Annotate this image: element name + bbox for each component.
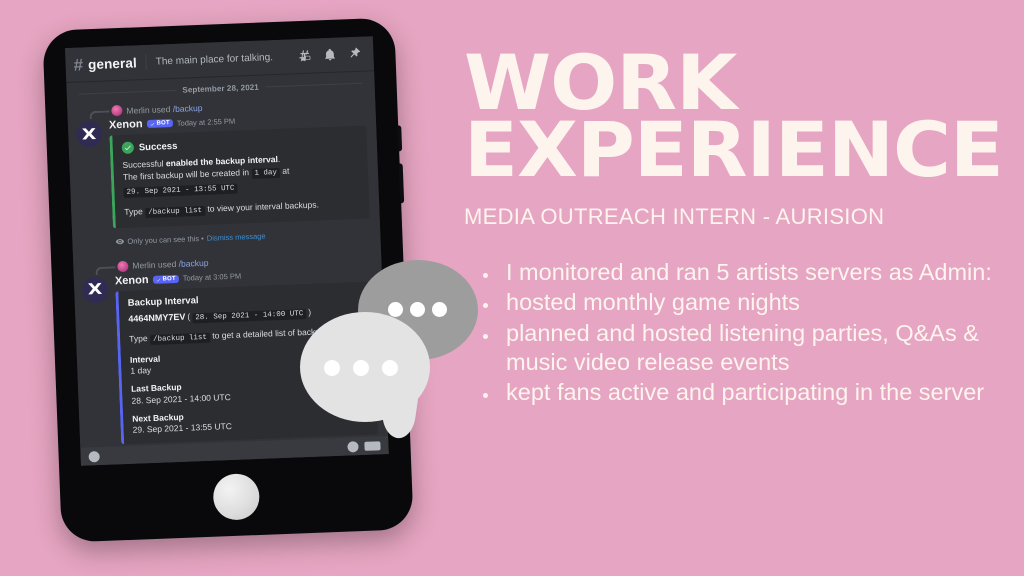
check-icon: [155, 277, 160, 282]
bubble-front-dot-1: [324, 360, 340, 376]
bullet-list: I monitored and ran 5 artists servers as…: [464, 258, 1024, 407]
add-attachment-icon[interactable]: [88, 451, 99, 462]
bot-badge-label: BOT: [156, 120, 169, 127]
embed-line1-prefix: Successful: [122, 158, 166, 170]
avatar[interactable]: X: [82, 277, 109, 304]
pin-icon[interactable]: [348, 47, 362, 61]
embed-success: Success Successful enabled the backup in…: [109, 126, 369, 229]
bubble-front-dot-3: [382, 360, 398, 376]
speech-bubble-decoration: [296, 258, 486, 448]
message-row: X Xenon BOT Today at 2:55 PM: [68, 107, 380, 230]
eye-icon: [115, 233, 125, 251]
backup-id: 4464NMY7EV: [128, 312, 185, 324]
bubble-back-dot-2: [410, 302, 425, 317]
header-icon-group: [297, 47, 363, 64]
list-item: I monitored and ran 5 artists servers as…: [500, 258, 1024, 287]
embed-code-command: /backup list: [145, 206, 205, 218]
embed-title: Success: [139, 140, 178, 152]
xenon-logo-icon: X: [88, 282, 103, 298]
heading-line-2: EXPERIENCE: [464, 117, 1024, 184]
interaction-user: Merlin: [126, 104, 150, 115]
ephemeral-label: Only you can see this •: [127, 234, 204, 246]
bubble-back-dot-1: [388, 302, 403, 317]
list-item: kept fans active and participating in th…: [500, 378, 1024, 407]
hash-icon: #: [73, 56, 83, 73]
bot-badge: BOT: [152, 275, 179, 285]
bubble-back-dot-3: [432, 302, 447, 317]
embed-line3-suffix: to view your interval backups.: [205, 200, 319, 214]
message-author[interactable]: Xenon: [115, 274, 149, 287]
header-divider: [145, 54, 147, 70]
bubble-front-dot-2: [353, 360, 369, 376]
bot-badge-label: BOT: [162, 276, 175, 283]
page-title: WORK EXPERIENCE: [464, 50, 1024, 184]
embed-line3-prefix: Type: [124, 206, 145, 217]
interaction-user: Merlin: [132, 260, 156, 271]
interaction-used-label: used: [158, 259, 177, 270]
embed-code-command: /backup list: [150, 333, 210, 345]
xenon-logo-icon: X: [82, 126, 97, 142]
page-subtitle: MEDIA OUTREACH INTERN - AURISION: [464, 204, 1024, 230]
list-item: planned and hosted listening parties, Q&…: [500, 319, 1024, 376]
avatar[interactable]: [117, 261, 128, 272]
slash-command-link[interactable]: /backup: [173, 102, 203, 113]
hint-prefix: Type: [129, 333, 150, 344]
slash-command-link[interactable]: /backup: [179, 258, 209, 269]
channel-topic: The main place for talking.: [156, 52, 274, 67]
list-item: hosted monthly game nights: [500, 288, 1024, 317]
dismiss-message-link[interactable]: Dismiss message: [207, 232, 266, 243]
reply-spine: [95, 266, 115, 275]
divider-rule-left: [79, 90, 176, 95]
message-input[interactable]: [106, 447, 342, 456]
embed-code-interval: 1 day: [251, 168, 280, 179]
volume-down-button[interactable]: [399, 163, 405, 203]
message-timestamp: Today at 2:55 PM: [177, 116, 236, 127]
embed-line2-mid: at: [280, 166, 290, 176]
check-circle-icon: [122, 142, 134, 154]
message-timestamp: Today at 3:05 PM: [183, 272, 242, 283]
embed-line1-suffix: .: [278, 154, 281, 164]
date-divider-label: September 28, 2021: [175, 82, 266, 94]
embed-line2-prefix: The first backup will be created in: [123, 167, 252, 182]
threads-icon[interactable]: [297, 49, 312, 64]
message-author[interactable]: Xenon: [109, 118, 143, 131]
bell-icon[interactable]: [323, 48, 337, 62]
interaction-used-label: used: [152, 104, 171, 115]
divider-rule-right: [266, 83, 363, 88]
avatar[interactable]: [111, 105, 122, 116]
paren-open: (: [187, 310, 190, 322]
bot-badge: BOT: [146, 119, 173, 129]
channel-name[interactable]: general: [88, 55, 137, 72]
slide-content: WORK EXPERIENCE MEDIA OUTREACH INTERN - …: [464, 0, 1024, 576]
volume-up-button[interactable]: [397, 125, 402, 151]
reply-spine: [89, 110, 109, 119]
avatar[interactable]: X: [76, 121, 103, 148]
check-icon: [149, 121, 154, 126]
